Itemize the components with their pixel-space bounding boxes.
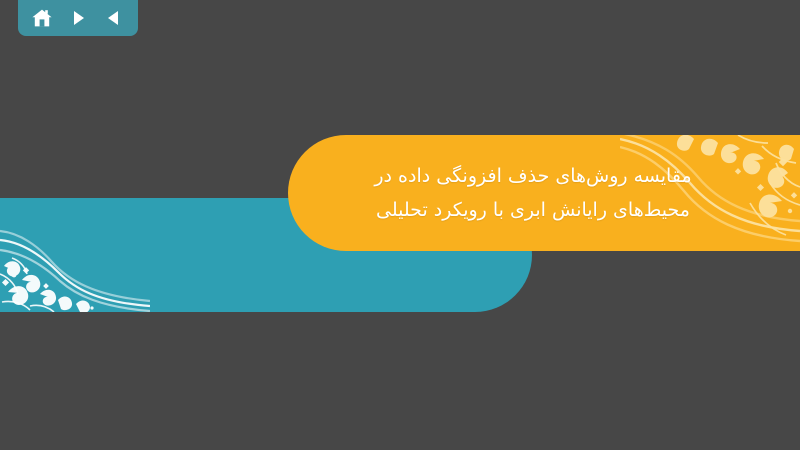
triangle-left-icon — [105, 9, 123, 27]
title-line-1: مقایسه روش‌های حذف افزونگی داده در — [288, 159, 778, 193]
triangle-right-icon — [69, 9, 87, 27]
home-button[interactable] — [29, 5, 55, 31]
previous-slide-button[interactable] — [101, 5, 127, 31]
presentation-slide: مقایسه روش‌های حذف افزونگی داده در محیط‌… — [0, 0, 800, 450]
home-icon — [31, 8, 53, 28]
next-slide-button[interactable] — [65, 5, 91, 31]
slide-title: مقایسه روش‌های حذف افزونگی داده در محیط‌… — [288, 159, 800, 227]
title-banner: مقایسه روش‌های حذف افزونگی داده در محیط‌… — [288, 135, 800, 251]
navigation-toolbar — [18, 0, 138, 36]
title-line-2: محیط‌های رایانش ابری با رویکرد تحلیلی — [288, 193, 778, 227]
teal-arabesque-ornament — [0, 222, 150, 312]
